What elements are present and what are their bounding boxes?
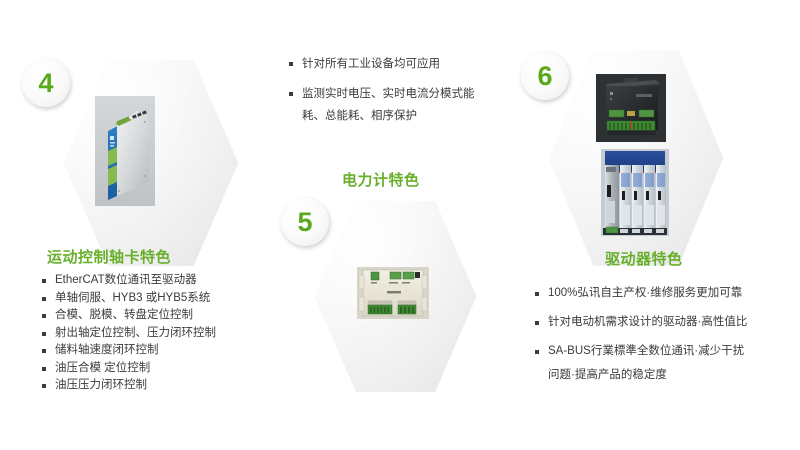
list-item: 储料轴速度闭环控制 (42, 342, 216, 360)
list-item-label: 单轴伺服、HYB3 或HYB5系统 (55, 290, 210, 308)
bullet-square-icon (535, 350, 539, 354)
servo-driver-photo (596, 74, 666, 142)
bullet-list-card-6: 100%弘讯自主产权·维修服务更加可靠 针对电动机需求设计的驱动器·高性值比 S… (535, 283, 797, 396)
servo-driver-illustration (596, 74, 666, 142)
motion-card-illustration (95, 96, 155, 206)
list-item: 监测实时电压、实时电流分模式能 耗、总能耗、相序保护 (289, 86, 529, 130)
power-meter-board-photo (357, 267, 429, 319)
slide-canvas: 4 运动控制轴卡特色 EtherCAT数位通讯至驱动器 单轴伺服、HYB3 或H… (0, 0, 800, 450)
list-item-label: 监测实时电压、实时电流分模式能 (302, 86, 475, 103)
list-item: 油压压力闭环控制 (42, 377, 216, 395)
list-item-label-cont: 耗、总能耗、相序保护 (302, 103, 475, 130)
list-item-label: 针对电动机需求设计的驱动器·高性值比 (548, 312, 747, 333)
list-item: 针对电动机需求设计的驱动器·高性值比 (535, 312, 797, 333)
list-item-label: 油压合模 定位控制 (55, 360, 150, 378)
bullet-square-icon (535, 321, 539, 325)
list-item: 针对所有工业设备均可应用 (289, 56, 529, 73)
list-item: 油压合模 定位控制 (42, 360, 216, 378)
badge-4: 4 (22, 59, 70, 107)
bullet-square-icon (289, 62, 293, 66)
badge-5-number: 5 (297, 209, 312, 236)
bullet-square-icon (42, 314, 46, 318)
badge-5: 5 (281, 198, 329, 246)
heading-card-4: 运动控制轴卡特色 (47, 246, 171, 267)
list-item: 100%弘讯自主产权·维修服务更加可靠 (535, 283, 797, 304)
bullet-square-icon (42, 297, 46, 301)
bullet-square-icon (42, 279, 46, 283)
list-item-label: 针对所有工业设备均可应用 (302, 56, 440, 73)
badge-6-number: 6 (537, 63, 552, 90)
power-meter-illustration (357, 267, 429, 319)
list-item-label: 合模、脱模、转盘定位控制 (55, 307, 193, 325)
heading-card-5: 电力计特色 (342, 169, 420, 190)
bullet-list-card-5: 针对所有工业设备均可应用 监测实时电压、实时电流分模式能 耗、总能耗、相序保护 (289, 56, 529, 130)
list-item-label: SA-BUS行業標準全数位通讯·减少干扰 (548, 341, 744, 362)
driver-rack-illustration (601, 149, 669, 236)
badge-4-number: 4 (38, 70, 53, 97)
bullet-square-icon (42, 349, 46, 353)
motion-control-axis-card-photo (95, 96, 155, 206)
bullet-square-icon (42, 367, 46, 371)
list-item: 单轴伺服、HYB3 或HYB5系统 (42, 290, 216, 308)
bullet-square-icon (42, 332, 46, 336)
list-item: 合模、脱模、转盘定位控制 (42, 307, 216, 325)
list-item-label: 储料轴速度闭环控制 (55, 342, 159, 360)
heading-card-6: 驱动器特色 (605, 248, 683, 269)
list-item-label-cont: 问题·提高产品的稳定度 (548, 362, 744, 388)
list-item: EtherCAT数位通讯至驱动器 (42, 272, 216, 290)
list-item-label: 100%弘讯自主产权·维修服务更加可靠 (548, 283, 742, 304)
list-item-label: 油压压力闭环控制 (55, 377, 147, 395)
badge-6: 6 (521, 52, 569, 100)
list-item: 射出轴定位控制、压力闭环控制 (42, 325, 216, 343)
bullet-square-icon (535, 292, 539, 296)
list-item-label: 射出轴定位控制、压力闭环控制 (55, 325, 216, 343)
list-item: SA-BUS行業標準全数位通讯·减少干扰 问题·提高产品的稳定度 (535, 341, 797, 388)
list-item-label: EtherCAT数位通讯至驱动器 (55, 272, 197, 290)
bullet-square-icon (289, 92, 293, 96)
driver-rack-photo (601, 149, 669, 236)
bullet-square-icon (42, 384, 46, 388)
bullet-list-card-4: EtherCAT数位通讯至驱动器 单轴伺服、HYB3 或HYB5系统 合模、脱模… (42, 272, 216, 395)
